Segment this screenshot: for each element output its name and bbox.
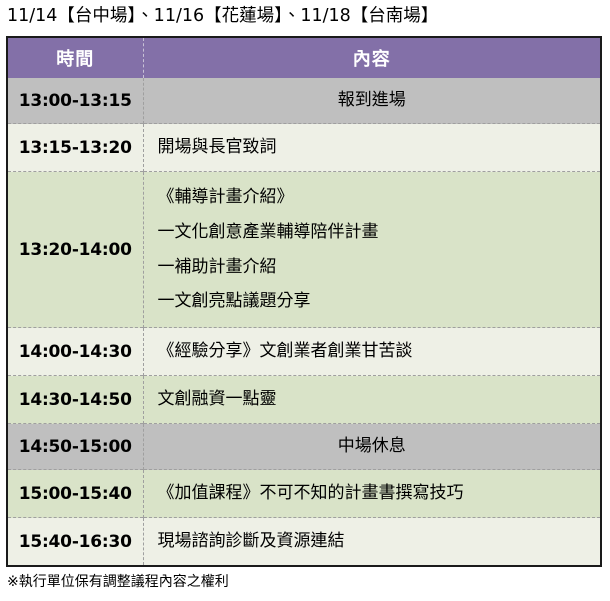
column-header-topic: 內容 [143, 37, 601, 78]
topic-line: 一文創亮點議題分享 [158, 284, 601, 319]
cell-topic: 《輔導計畫介紹》 一文化創意產業輔導陪伴計畫 一補助計畫介紹 一文創亮點議題分享 [143, 172, 601, 328]
table-body: 13:00-13:15 報到進場 13:15-13:20 開場與長官致詞 13:… [7, 78, 601, 566]
table-row: 13:20-14:00 《輔導計畫介紹》 一文化創意產業輔導陪伴計畫 一補助計畫… [7, 172, 601, 328]
agenda-document: 11/14【台中場】、11/16【花蓮場】、11/18【台南場】 時間 內容 1… [0, 0, 610, 601]
table-row: 14:30-14:50 文創融資一點靈 [7, 376, 601, 424]
cell-time: 13:20-14:00 [7, 172, 143, 328]
cell-time: 14:50-15:00 [7, 424, 143, 470]
table-header-row: 時間 內容 [7, 37, 601, 78]
cell-topic: 現場諮詢診斷及資源連結 [143, 518, 601, 567]
topic-line: 一補助計畫介紹 [158, 250, 601, 285]
table-row: 14:50-15:00 中場休息 [7, 424, 601, 470]
cell-topic: 中場休息 [143, 424, 601, 470]
table-row: 15:00-15:40 《加值課程》不可不知的計畫書撰寫技巧 [7, 470, 601, 518]
topic-line: 《輔導計畫介紹》 [158, 180, 601, 215]
topic-line-list: 《輔導計畫介紹》 一文化創意產業輔導陪伴計畫 一補助計畫介紹 一文創亮點議題分享 [158, 176, 601, 323]
table-row: 15:40-16:30 現場諮詢診斷及資源連結 [7, 518, 601, 567]
cell-topic: 《經驗分享》文創業者創業甘苦談 [143, 328, 601, 376]
table-row: 14:00-14:30 《經驗分享》文創業者創業甘苦談 [7, 328, 601, 376]
column-header-time: 時間 [7, 37, 143, 78]
cell-time: 13:00-13:15 [7, 78, 143, 124]
agenda-table: 時間 內容 13:00-13:15 報到進場 13:15-13:20 開場與長官… [6, 36, 602, 567]
cell-time: 13:15-13:20 [7, 124, 143, 172]
cell-time: 15:40-16:30 [7, 518, 143, 567]
cell-time: 15:00-15:40 [7, 470, 143, 518]
cell-time: 14:30-14:50 [7, 376, 143, 424]
footnote: ※執行單位保有調整議程內容之權利 [7, 572, 603, 592]
cell-topic: 《加值課程》不可不知的計畫書撰寫技巧 [143, 470, 601, 518]
table-header: 時間 內容 [7, 37, 601, 78]
page-title: 11/14【台中場】、11/16【花蓮場】、11/18【台南場】 [7, 1, 603, 31]
table-row: 13:00-13:15 報到進場 [7, 78, 601, 124]
topic-line: 一文化創意產業輔導陪伴計畫 [158, 215, 601, 250]
cell-topic: 報到進場 [143, 78, 601, 124]
table-row: 13:15-13:20 開場與長官致詞 [7, 124, 601, 172]
cell-time: 14:00-14:30 [7, 328, 143, 376]
cell-topic: 開場與長官致詞 [143, 124, 601, 172]
cell-topic: 文創融資一點靈 [143, 376, 601, 424]
